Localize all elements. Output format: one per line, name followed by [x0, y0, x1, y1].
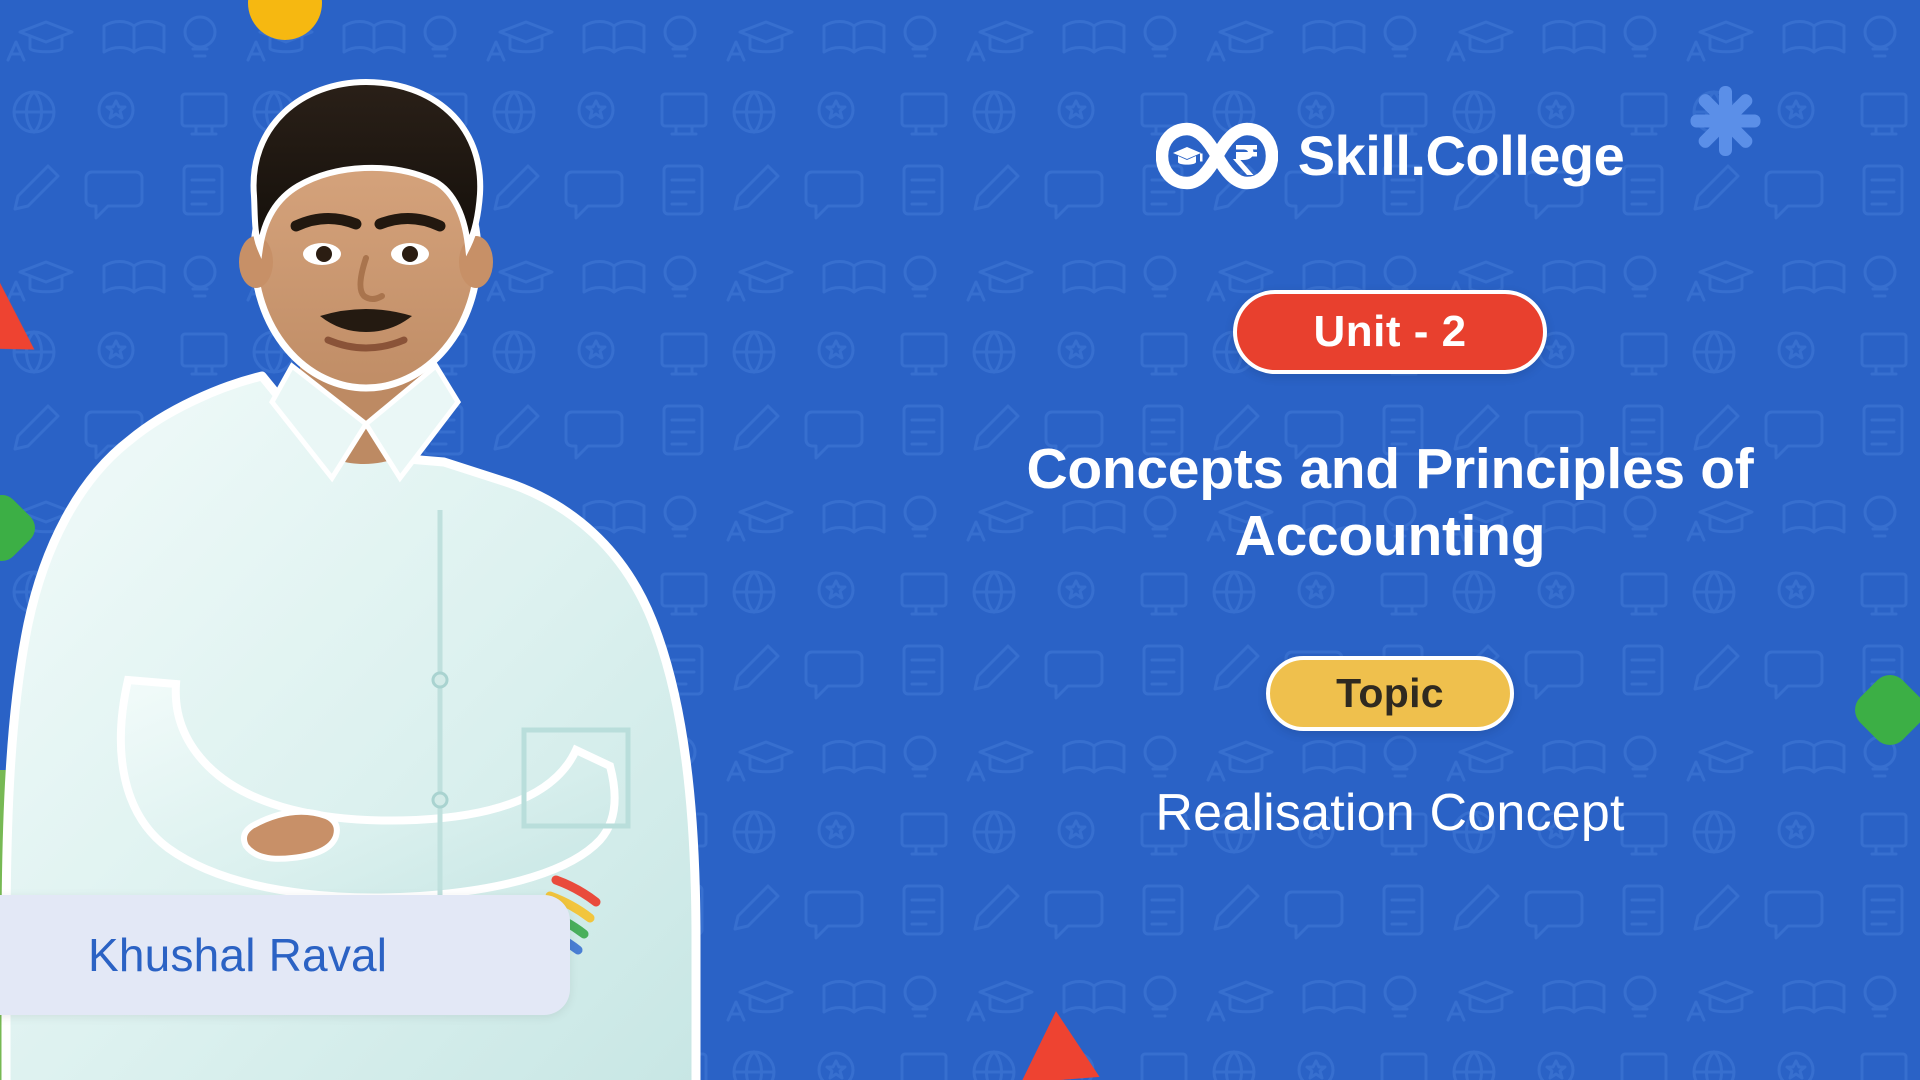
unit-badge-label: Unit - 2 [1313, 308, 1466, 356]
brand-lockup: Skill.College [1156, 120, 1625, 192]
topic-name: Realisation Concept [1155, 783, 1624, 843]
infinity-graduation-rupee-icon [1156, 120, 1278, 192]
content-column: Skill.College Unit - 2 Concepts and Prin… [860, 0, 1920, 1080]
slide-canvas: Khushal Raval [0, 0, 1920, 1080]
brand-name: Skill.College [1298, 128, 1625, 184]
presenter-name-plate: Khushal Raval [0, 895, 570, 1015]
topic-badge: Topic [1266, 656, 1514, 731]
unit-badge: Unit - 2 [1233, 290, 1546, 374]
presenter-name: Khushal Raval [88, 928, 387, 982]
topic-badge-label: Topic [1336, 671, 1444, 716]
lesson-title: Concepts and Principles of Accounting [915, 436, 1865, 569]
